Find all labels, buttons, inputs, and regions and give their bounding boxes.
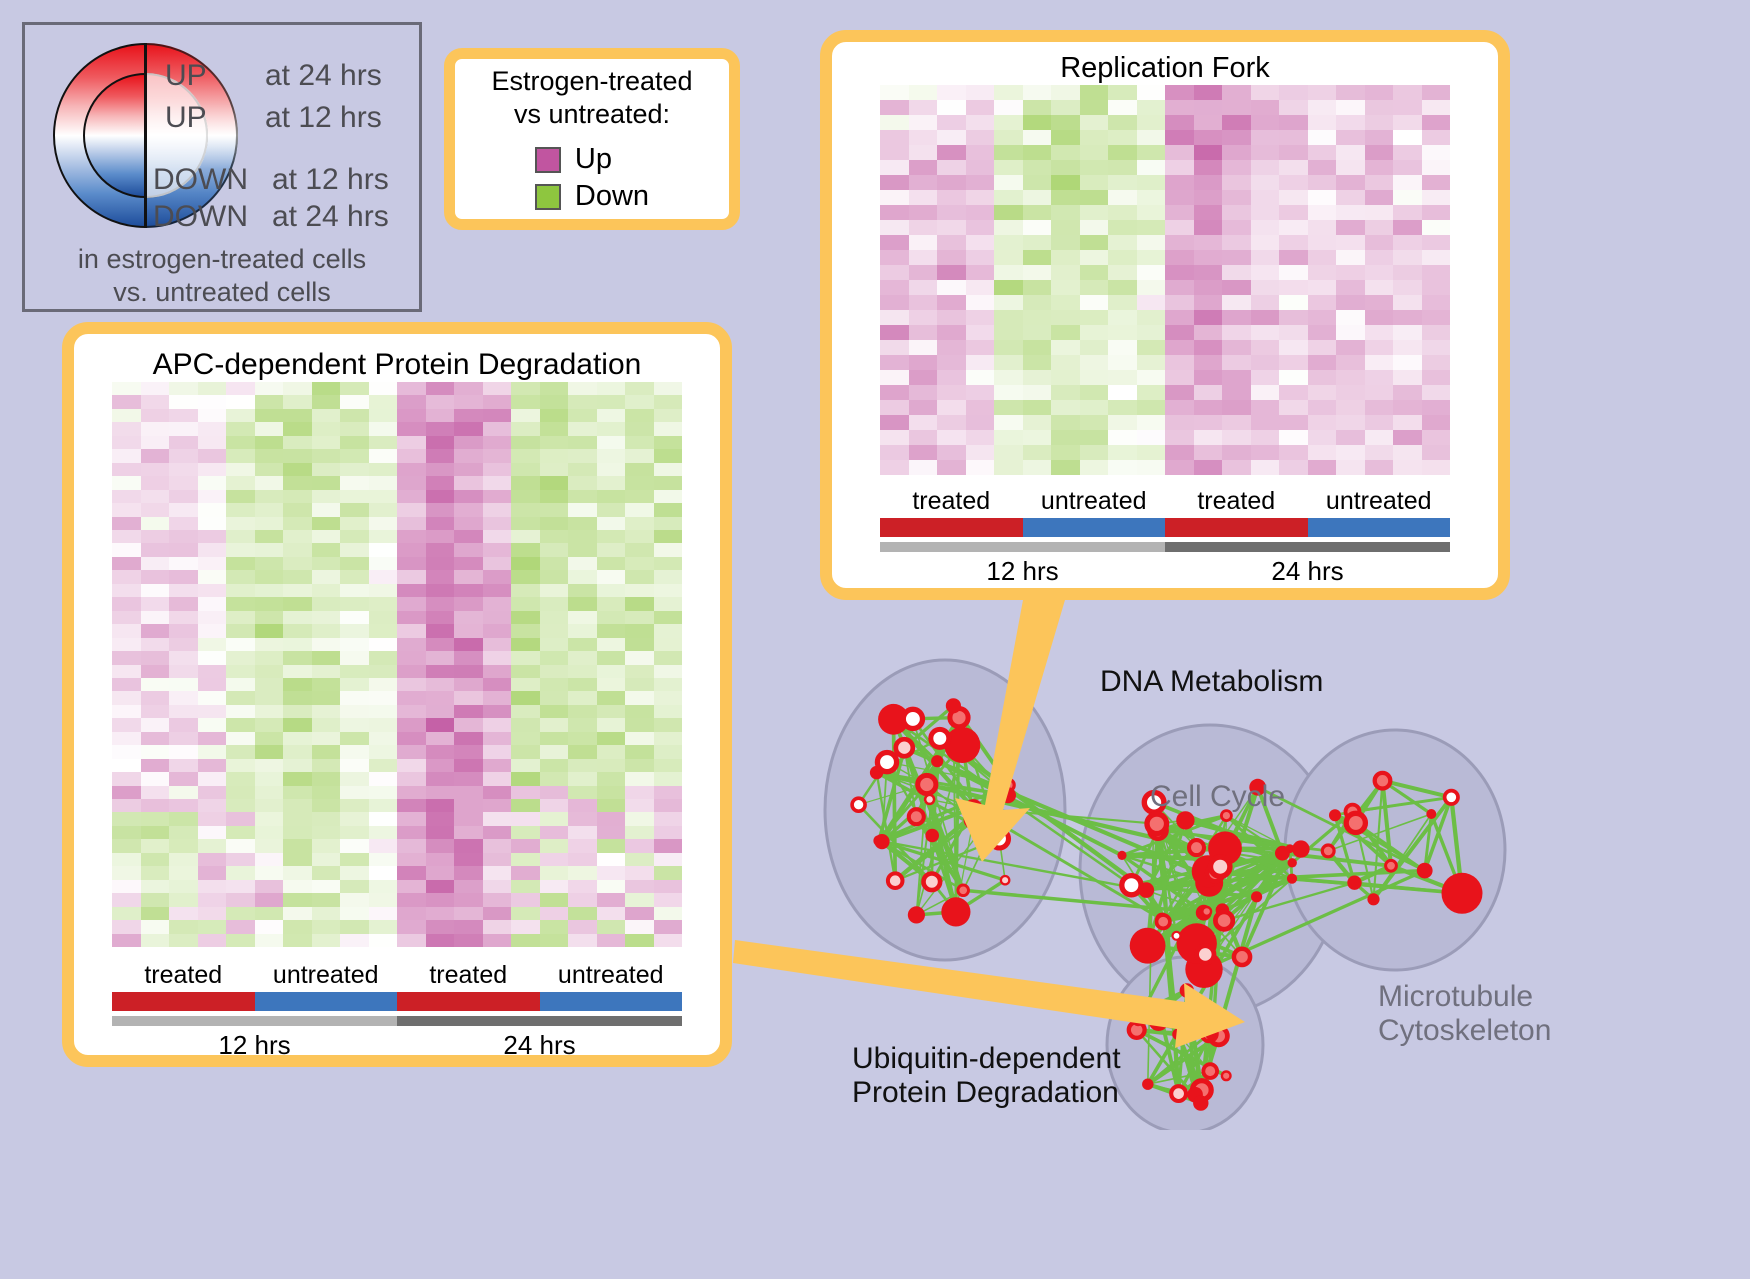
heatmap-cell [454, 611, 483, 624]
heatmap-cell [198, 732, 227, 745]
heatmap-cell [540, 786, 569, 799]
heatmap-cell [369, 597, 398, 610]
heatmap-cell [654, 409, 683, 422]
heatmap-cell [568, 543, 597, 556]
heatmap-cell [283, 449, 312, 462]
heatmap-cell [112, 624, 141, 637]
heatmap-cell [909, 220, 938, 235]
heatmap-cell [198, 759, 227, 772]
heatmap-cell [540, 517, 569, 530]
heatmap-cell [112, 759, 141, 772]
heatmap-cell [1194, 310, 1223, 325]
heatmap-cell [312, 517, 341, 530]
heatmap-cell [1336, 220, 1365, 235]
heatmap-cell [1051, 205, 1080, 220]
heatmap-cell [426, 812, 455, 825]
heatmap-cell [141, 920, 170, 933]
heatmap-cell [1336, 400, 1365, 415]
heatmap-cell [312, 812, 341, 825]
heatmap-cell [880, 250, 909, 265]
heatmap-cell [1422, 235, 1451, 250]
heatmap-cell [625, 517, 654, 530]
heatmap-cell [1165, 370, 1194, 385]
heatmap-cell [966, 205, 995, 220]
network-node [874, 834, 889, 849]
heatmap-cell [369, 839, 398, 852]
heatmap-cell [1422, 115, 1451, 130]
heatmap-cell [226, 786, 255, 799]
heatmap-cell [426, 907, 455, 920]
heatmap-cell [625, 597, 654, 610]
heatmap-cell [369, 786, 398, 799]
heatmap-cell [141, 934, 170, 947]
heatmap-cell [255, 853, 284, 866]
heatmap-cell [625, 866, 654, 879]
heatmap-cell [112, 866, 141, 879]
heatmap-cell [1365, 220, 1394, 235]
heatmap-cell [654, 853, 683, 866]
heatmap-cell [397, 665, 426, 678]
heatmap-cell [340, 395, 369, 408]
heatmap-cell [568, 382, 597, 395]
heatmap-cell [966, 400, 995, 415]
heatmap-cell [1051, 280, 1080, 295]
heatmap-cell [255, 907, 284, 920]
heatmap-cell [169, 826, 198, 839]
heatmap-cell [1108, 265, 1137, 280]
heatmap-cell [169, 745, 198, 758]
heatmap-cell [994, 280, 1023, 295]
heatmap-cell [880, 385, 909, 400]
heatmap-cell [340, 651, 369, 664]
heatmap-cell [426, 866, 455, 879]
heatmap-cell [1165, 175, 1194, 190]
heatmap-cell [1080, 85, 1109, 100]
heatmap-cell [597, 839, 626, 852]
heatmap-cell [112, 409, 141, 422]
heatmap-cell [511, 557, 540, 570]
heatmap-cell [340, 853, 369, 866]
heatmap-cell [909, 460, 938, 475]
heatmap-cell [1279, 205, 1308, 220]
heatmap-cell [568, 517, 597, 530]
time-labels-replication: 12 hrs 24 hrs [880, 556, 1450, 587]
heatmap-cell [1365, 160, 1394, 175]
heatmap-cell [1336, 130, 1365, 145]
heatmap-cell [1165, 415, 1194, 430]
heatmap-cell [1080, 400, 1109, 415]
heatmap-cell [937, 340, 966, 355]
heatmap-cell [1194, 445, 1223, 460]
heatmap-cell [369, 463, 398, 476]
heatmap-cell [1222, 460, 1251, 475]
heatmap-cell [169, 490, 198, 503]
heatmap-cell [483, 597, 512, 610]
heatmap-cell [540, 934, 569, 947]
heatmap-cell [198, 691, 227, 704]
heatmap-cell [937, 280, 966, 295]
heatmap-cell [255, 880, 284, 893]
heatmap-cell [994, 430, 1023, 445]
heatmap-cell [340, 893, 369, 906]
heatmap-cell [141, 557, 170, 570]
heatmap-cell [597, 611, 626, 624]
heatmap-cell [909, 235, 938, 250]
heatmap-cell [625, 893, 654, 906]
heatmap-cell [226, 826, 255, 839]
heatmap-cell [369, 611, 398, 624]
heatmap-cell [568, 759, 597, 772]
heatmap-cell [880, 400, 909, 415]
heatmap-cell [597, 665, 626, 678]
heatmap-cell [909, 415, 938, 430]
heatmap-cell [141, 678, 170, 691]
heatmap-cell [397, 624, 426, 637]
heatmap-cell [1279, 400, 1308, 415]
heatmap-cell [994, 85, 1023, 100]
heatmap-cell [1251, 145, 1280, 160]
heatmap-cell [369, 422, 398, 435]
heatmap-cell [1393, 415, 1422, 430]
heatmap-cell [226, 705, 255, 718]
heatmap-cell [426, 920, 455, 933]
network-node [908, 906, 925, 923]
heatmap-cell [369, 812, 398, 825]
heatmap-cell [1308, 160, 1337, 175]
heatmap-cell [1194, 205, 1223, 220]
heatmap-cell [1336, 250, 1365, 265]
heatmap-cell [397, 530, 426, 543]
heatmap-cell [454, 409, 483, 422]
heatmap-cell [1279, 370, 1308, 385]
heatmap-cell [1137, 415, 1166, 430]
heatmap-cell [1365, 415, 1394, 430]
heatmap-cell [397, 745, 426, 758]
heatmap-cell [625, 463, 654, 476]
heatmap-cell [369, 907, 398, 920]
heatmap-cell [654, 436, 683, 449]
heatmap-cell [255, 799, 284, 812]
heatmap-cell [226, 436, 255, 449]
heatmap-cell [1251, 430, 1280, 445]
heatmap-cell [141, 490, 170, 503]
legend-item-down: Down [535, 180, 649, 213]
heatmap-cell [340, 611, 369, 624]
heatmap-cell [312, 382, 341, 395]
heatmap-cell [1393, 310, 1422, 325]
heatmap-cell [1251, 235, 1280, 250]
heatmap-cell [141, 584, 170, 597]
heatmap-cell [454, 584, 483, 597]
heatmap-cell [1365, 235, 1394, 250]
heatmap-cell [1023, 160, 1052, 175]
heatmap-cell [226, 799, 255, 812]
heatmap-cell [198, 530, 227, 543]
heatmap-cell [483, 705, 512, 718]
condition-colorblock [880, 518, 1023, 537]
heatmap-cell [112, 422, 141, 435]
heatmap-cell [169, 449, 198, 462]
heatmap-cell [141, 812, 170, 825]
heatmap-cell [654, 732, 683, 745]
heatmap-cell [255, 826, 284, 839]
heatmap-cell [312, 409, 341, 422]
down-swatch-icon [535, 184, 561, 210]
heatmap-cell [597, 476, 626, 489]
heatmap-cell [1308, 115, 1337, 130]
heatmap-cell [1165, 100, 1194, 115]
heatmap-cell [1308, 85, 1337, 100]
heatmap-cell [283, 732, 312, 745]
heatmap-cell [226, 866, 255, 879]
heatmap-cell [1108, 235, 1137, 250]
heatmap-cell [283, 624, 312, 637]
heatmap-cell [1051, 430, 1080, 445]
heatmap-cell [1279, 235, 1308, 250]
heatmap-cell [340, 490, 369, 503]
heatmap-cell [1222, 430, 1251, 445]
heatmap-cell [1137, 115, 1166, 130]
heatmap-cell [540, 665, 569, 678]
heatmap-cell [198, 651, 227, 664]
heatmap-cell [1051, 85, 1080, 100]
heatmap-cell [426, 557, 455, 570]
heatmap-cell [369, 826, 398, 839]
heatmap-cell [540, 570, 569, 583]
heatmap-cell [568, 705, 597, 718]
network-node [1329, 809, 1341, 821]
heatmap-cell [540, 597, 569, 610]
heatmap-cell [369, 382, 398, 395]
network-node [909, 809, 924, 824]
heatmap-cell [937, 385, 966, 400]
heatmap-cell [283, 920, 312, 933]
heatmap-cell [112, 678, 141, 691]
condition-label: untreated [1023, 487, 1166, 516]
heatmap-cell [340, 732, 369, 745]
heatmap-cell [880, 295, 909, 310]
heatmap-cell [426, 718, 455, 731]
heatmap-cell [1108, 130, 1137, 145]
heatmap-cell [454, 665, 483, 678]
heatmap-cell [1308, 295, 1337, 310]
heatmap-cell [340, 880, 369, 893]
heatmap-cell [1051, 190, 1080, 205]
heatmap-cell [1023, 400, 1052, 415]
heatmap-cell [169, 880, 198, 893]
heatmap-cell [112, 732, 141, 745]
heatmap-cell [141, 597, 170, 610]
heatmap-cell [1336, 385, 1365, 400]
heatmap-cell [283, 584, 312, 597]
heatmap-cell [1308, 460, 1337, 475]
heatmap-cell [226, 570, 255, 583]
condition-colorblock [540, 992, 683, 1011]
network-node [1202, 907, 1211, 916]
heatmap-cell [994, 205, 1023, 220]
heatmap-cell [112, 799, 141, 812]
heatmap-cell [226, 893, 255, 906]
heatmap-cell [625, 786, 654, 799]
heatmap-cell [1279, 340, 1308, 355]
heatmap-cell [1393, 145, 1422, 160]
heatmap-cell [654, 543, 683, 556]
heatmap-cell [312, 893, 341, 906]
heatmap-cell [568, 490, 597, 503]
heatmap-cell [1080, 220, 1109, 235]
heatmap-cell [1222, 205, 1251, 220]
heatmap-cell [540, 395, 569, 408]
network-node [1442, 873, 1483, 914]
heatmap-cell [1137, 235, 1166, 250]
heatmap-cell [1165, 115, 1194, 130]
heatmap-cell [255, 786, 284, 799]
heatmap-cell [112, 907, 141, 920]
heatmap-cell [1051, 130, 1080, 145]
heatmap-cell [654, 745, 683, 758]
heatmap-cell [540, 463, 569, 476]
heatmap-cell [483, 718, 512, 731]
heatmap-cell [511, 395, 540, 408]
heatmap-cell [454, 880, 483, 893]
heatmap-cell [654, 557, 683, 570]
heatmap-cell [369, 517, 398, 530]
heatmap-cell [1222, 355, 1251, 370]
heatmap-cell [112, 718, 141, 731]
heatmap-cell [1222, 445, 1251, 460]
heatmap-cell [226, 395, 255, 408]
heatmap-cell [1279, 295, 1308, 310]
heatmap-cell [1336, 280, 1365, 295]
heatmap-cell [198, 718, 227, 731]
heatmap-cell [1393, 385, 1422, 400]
heatmap-cell [625, 436, 654, 449]
heatmap-cell [540, 476, 569, 489]
heatmap-cell [483, 853, 512, 866]
heatmap-cell [568, 584, 597, 597]
heatmap-cell [511, 517, 540, 530]
heatmap-cell [1393, 400, 1422, 415]
heatmap-cell [597, 449, 626, 462]
heatmap-cell [625, 449, 654, 462]
heatmap-cell [597, 517, 626, 530]
heatmap-cell [1251, 400, 1280, 415]
heatmap-cell [994, 340, 1023, 355]
heatmap-cell [1165, 130, 1194, 145]
condition-labels-replication: treated untreated treated untreated [880, 487, 1450, 516]
heatmap-cell [1194, 115, 1223, 130]
heatmap-cell [511, 853, 540, 866]
heatmap-cell [226, 530, 255, 543]
heatmap-cell [483, 503, 512, 516]
heatmap-cell [483, 395, 512, 408]
heatmap-cell [426, 651, 455, 664]
heatmap-cell [397, 772, 426, 785]
heatmap-cell [1023, 220, 1052, 235]
heatmap-cell [1108, 370, 1137, 385]
heatmap-cell [255, 382, 284, 395]
heatmap-cell [141, 611, 170, 624]
heatmap-cell [625, 530, 654, 543]
heatmap-cell [141, 436, 170, 449]
heatmap-cell [312, 907, 341, 920]
heatmap-cell [597, 786, 626, 799]
heatmap-cell [1422, 445, 1451, 460]
heatmap-cell [1393, 220, 1422, 235]
heatmap-cell [112, 705, 141, 718]
heatmap-cell [937, 175, 966, 190]
heatmap-cell [625, 651, 654, 664]
heatmap-cell [1251, 340, 1280, 355]
heatmap-cell [340, 530, 369, 543]
heatmap-cell [169, 624, 198, 637]
heatmap-cell [1251, 310, 1280, 325]
heatmap-cell [255, 934, 284, 947]
network-node [931, 755, 943, 767]
heatmap-cell [540, 624, 569, 637]
heatmap-cell [540, 853, 569, 866]
heatmap-cell [369, 624, 398, 637]
heatmap-cell [454, 678, 483, 691]
heatmap-cell [994, 445, 1023, 460]
heatmap-cell [255, 920, 284, 933]
heatmap-cell [141, 638, 170, 651]
heatmap-cell [654, 772, 683, 785]
heatmap-cell [597, 395, 626, 408]
heatmap-cell [483, 934, 512, 947]
heatmap-cell [397, 705, 426, 718]
heatmap-cell [654, 759, 683, 772]
heatmap-cell [397, 557, 426, 570]
heatmap-cell [1023, 340, 1052, 355]
heatmap-cell [340, 920, 369, 933]
heatmap-cell [169, 920, 198, 933]
heatmap-cell [1137, 370, 1166, 385]
heatmap-cell [625, 543, 654, 556]
heatmap-cell [169, 786, 198, 799]
up-swatch-icon [535, 147, 561, 173]
heatmap-cell [1279, 130, 1308, 145]
heatmap-cell [511, 530, 540, 543]
heatmap-cell [112, 449, 141, 462]
heatmap-cell [511, 718, 540, 731]
heatmap-cell [511, 812, 540, 825]
heatmap-cell [880, 460, 909, 475]
heatmap-cell [312, 463, 341, 476]
heatmap-cell [880, 160, 909, 175]
heatmap-cell [937, 220, 966, 235]
heatmap-cell [1336, 265, 1365, 280]
heatmap-cell [198, 665, 227, 678]
heatmap-cell [1251, 100, 1280, 115]
heatmap-apc-degradation [112, 382, 682, 947]
heatmap-cell [1222, 190, 1251, 205]
heatmap-cell [625, 570, 654, 583]
heatmap-cell [198, 436, 227, 449]
time-colorblock [112, 1016, 397, 1026]
heatmap-cell [1108, 340, 1137, 355]
heatmap-cell [312, 934, 341, 947]
heatmap-cell [511, 880, 540, 893]
heatmap-cell [1051, 460, 1080, 475]
heatmap-cell [511, 422, 540, 435]
network-node [1445, 791, 1458, 804]
heatmap-cell [1308, 280, 1337, 295]
heatmap-cell [1251, 370, 1280, 385]
heatmap-cell [654, 463, 683, 476]
heatmap-cell [909, 445, 938, 460]
heatmap-cell [112, 651, 141, 664]
